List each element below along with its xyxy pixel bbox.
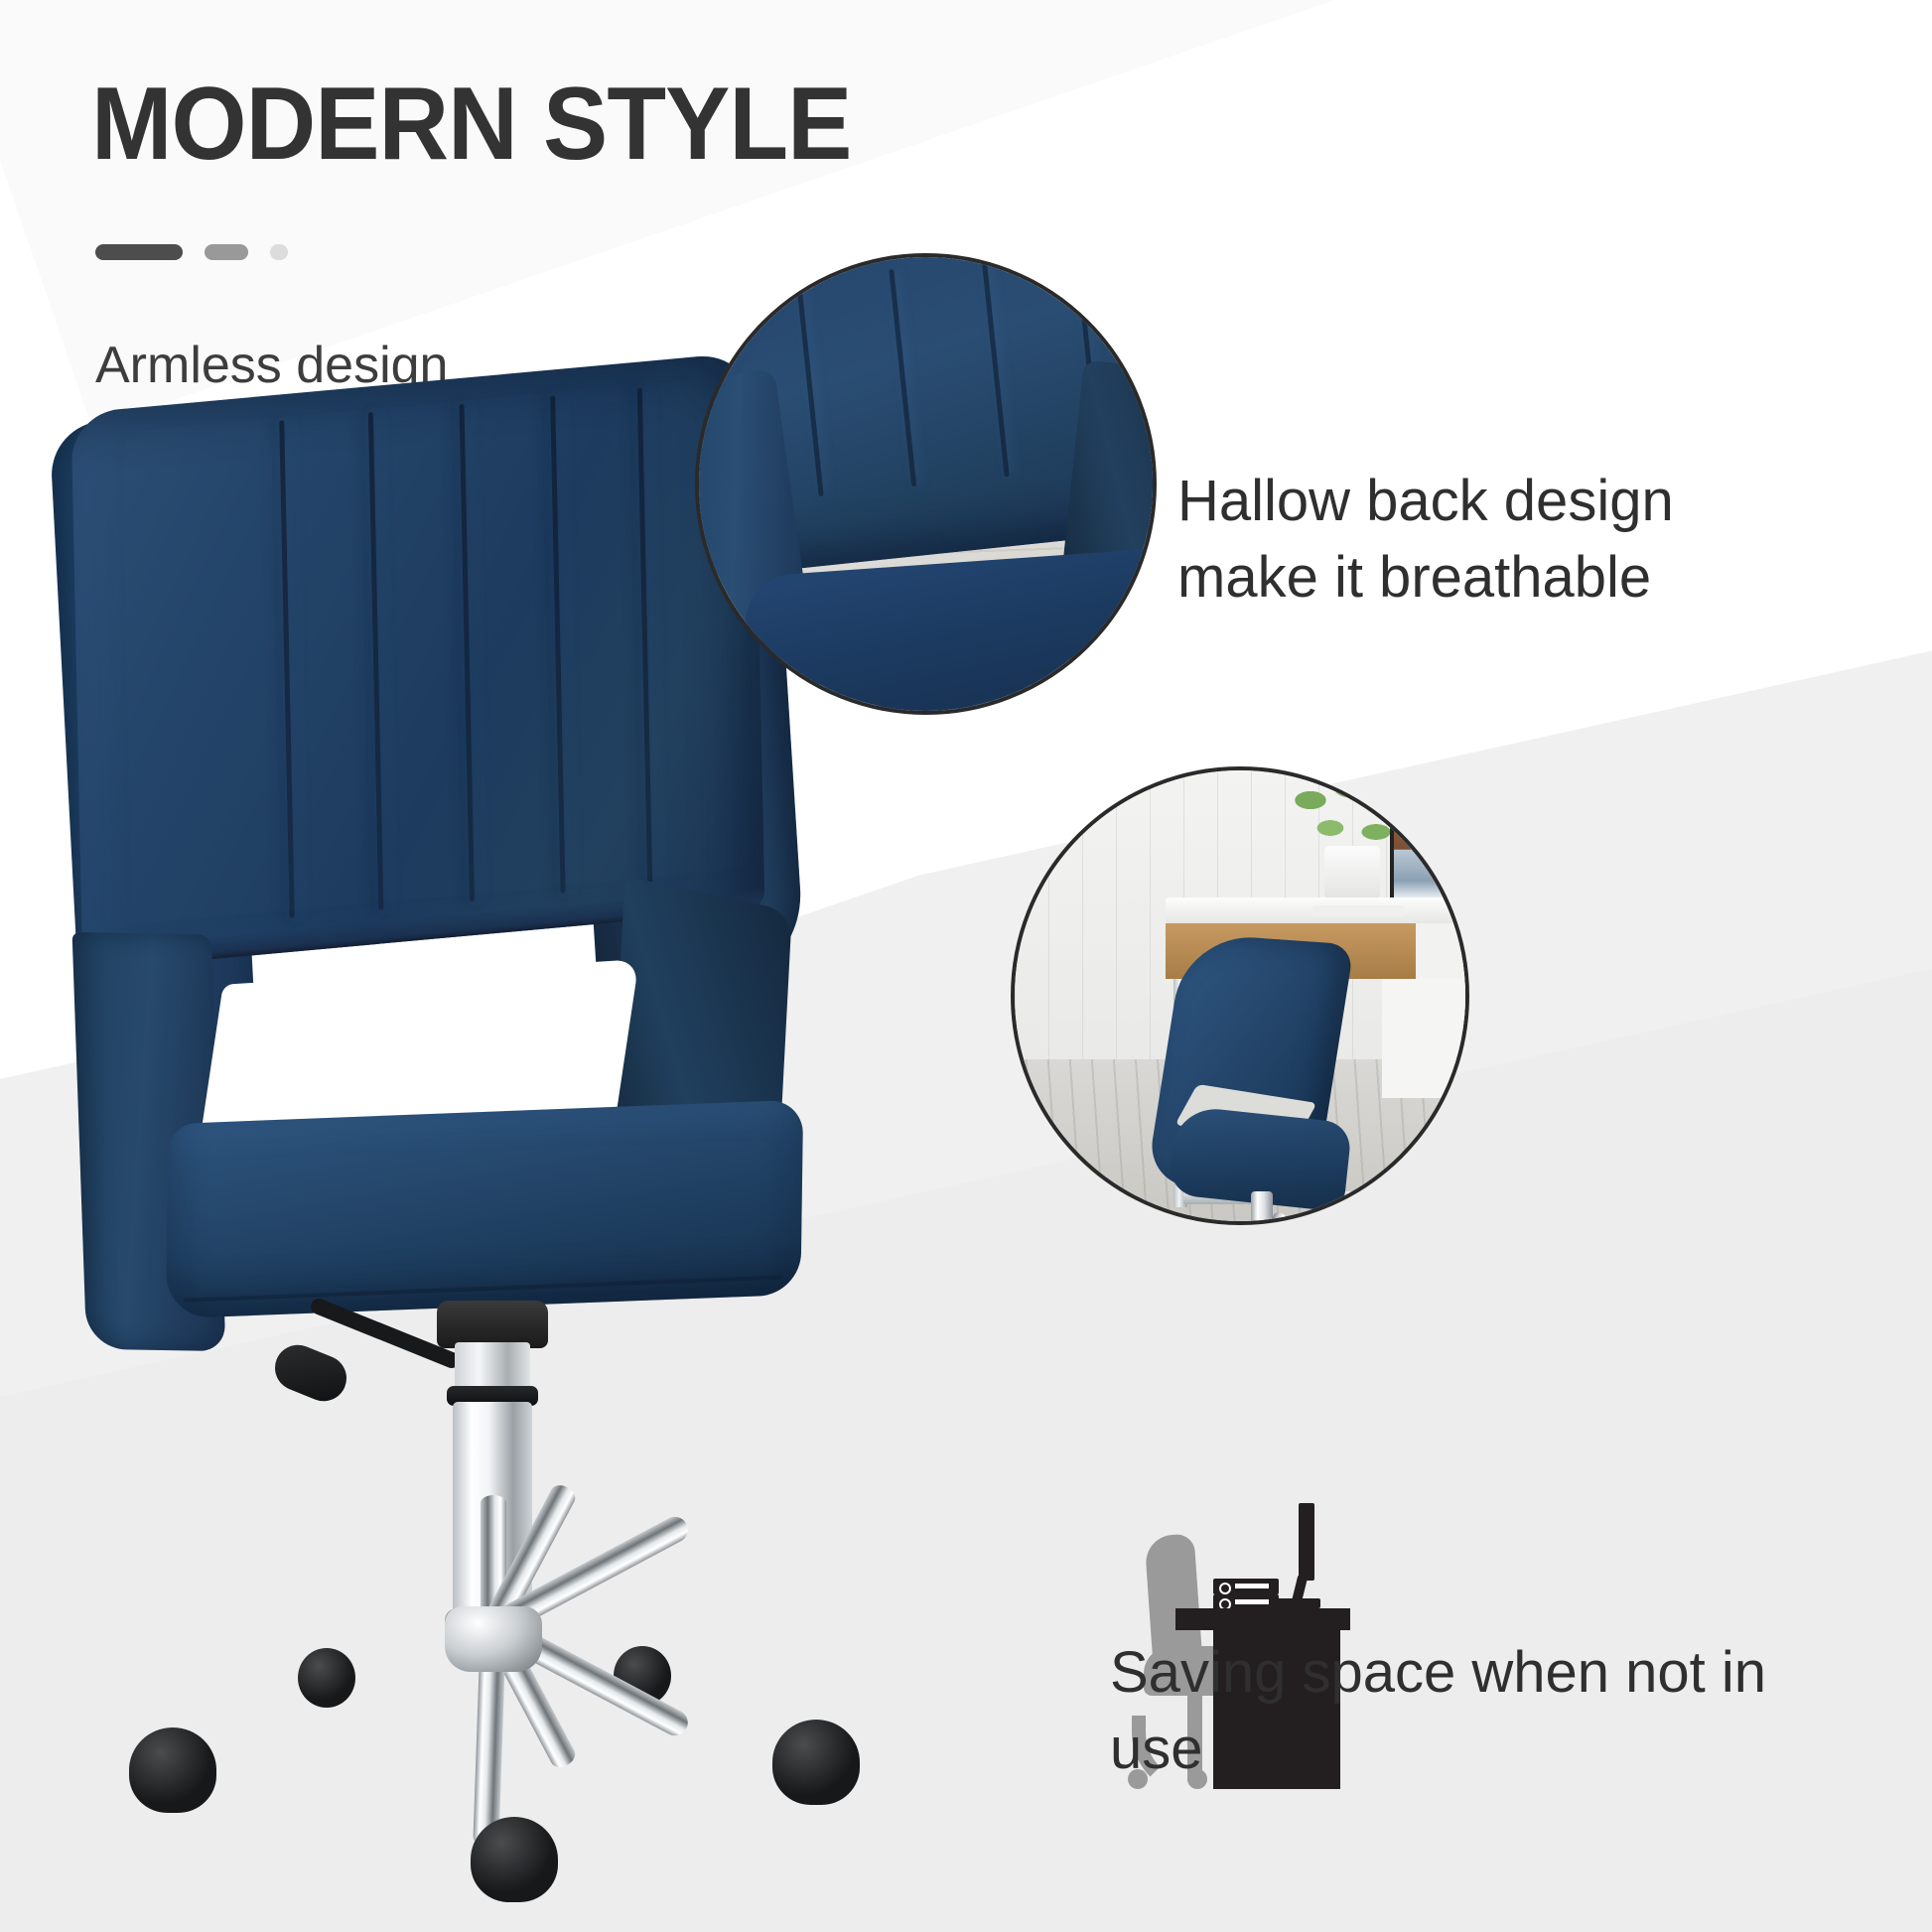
- dash-secondary-icon: [205, 244, 248, 260]
- caster-wheel: [772, 1720, 860, 1805]
- pictogram-monitor-icon: [1299, 1503, 1314, 1581]
- callout-hollow-back: Hallow back design make it breathable: [1177, 463, 1813, 616]
- page-title: MODERN STYLE: [91, 66, 851, 184]
- callout-saving-space: Saving space when not in use: [1110, 1634, 1805, 1787]
- tufting-channel: [637, 387, 652, 886]
- desk-side-panel: [1382, 979, 1469, 1098]
- pictogram-binder-icon: [1213, 1579, 1279, 1594]
- desk-white-panel: [1416, 923, 1469, 979]
- monitor-screen: [1390, 818, 1469, 901]
- inset-room-scene: [1011, 766, 1469, 1225]
- seat-mechanism: [437, 1301, 548, 1348]
- dash-active-icon: [95, 244, 183, 260]
- chair-backrest: [71, 351, 765, 971]
- tufting-channel: [279, 420, 294, 918]
- progress-dash-indicator: [95, 244, 288, 260]
- inset-hollow-back-closeup: [695, 253, 1157, 715]
- pictogram-desk-top-icon: [1175, 1608, 1350, 1630]
- tufting-channel: [796, 279, 824, 496]
- height-adjust-lever-knob: [268, 1338, 353, 1408]
- tufting-channel: [550, 395, 565, 894]
- tufting-channel: [368, 412, 383, 910]
- plant-pot: [1324, 846, 1380, 901]
- base-hub: [445, 1606, 542, 1672]
- tufting-channel: [982, 259, 1010, 477]
- gas-lift-top: [455, 1342, 530, 1390]
- tufting-channel: [459, 404, 474, 902]
- infographic-canvas: MODERN STYLE Armless design: [0, 0, 1932, 1932]
- tufting-channel: [889, 269, 916, 486]
- pictogram-monitor-base-icon: [1277, 1598, 1320, 1608]
- caster-wheel: [129, 1727, 216, 1813]
- caster-wheel: [471, 1817, 558, 1902]
- chair-seat: [166, 1100, 803, 1319]
- dash-tertiary-icon: [270, 244, 288, 260]
- caster-wheel: [298, 1648, 355, 1708]
- keyboard: [1312, 905, 1404, 916]
- room-chair-gas-lift: [1251, 1191, 1273, 1225]
